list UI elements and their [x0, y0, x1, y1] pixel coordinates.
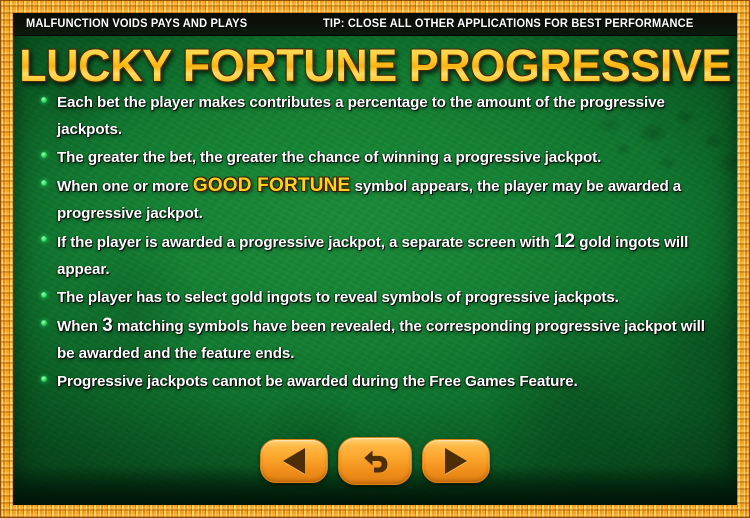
malfunction-notice-text: MALFUNCTION VOIDS PAYS AND PLAYS [26, 18, 247, 30]
undo-arrow-icon [359, 447, 391, 475]
rule-item: When 3 matching symbols have been reveal… [35, 312, 723, 367]
bullet-dot-icon [41, 180, 47, 186]
rule-text: The greater the bet, the greater the cha… [57, 144, 723, 171]
bullet-dot-icon [41, 152, 47, 158]
rule-text-span: When [57, 318, 102, 335]
rule-item: When one or more GOOD FORTUNE symbol app… [35, 172, 723, 227]
rule-text-span: The player has to select gold ingots to … [57, 289, 619, 306]
rule-text: Progressive jackpots cannot be awarded d… [57, 368, 723, 395]
page-title: LUCKY FORTUNE PROGRESSIVE [13, 43, 737, 88]
rule-text: The player has to select gold ingots to … [57, 284, 723, 311]
bullet-dot-icon [41, 292, 47, 298]
back-to-game-button[interactable] [338, 437, 412, 485]
bullet-dot-icon [41, 320, 47, 326]
notice-bar: MALFUNCTION VOIDS PAYS AND PLAYS TIP: CL… [13, 13, 737, 36]
bullet-dot-icon [41, 376, 47, 382]
rules-list: Each bet the player makes contributes a … [35, 89, 723, 396]
bullet-dot-icon [41, 97, 47, 103]
rule-text-span: If the player is awarded a progressive j… [57, 234, 554, 251]
previous-page-button[interactable] [260, 439, 328, 483]
rule-text-span: matching symbols have been revealed, the… [57, 318, 705, 362]
rule-text: Each bet the player makes contributes a … [57, 89, 723, 143]
bullet-dot-icon [41, 236, 47, 242]
content-panel: MALFUNCTION VOIDS PAYS AND PLAYS TIP: CL… [13, 13, 737, 505]
rule-text-span: Each bet the player makes contributes a … [57, 94, 665, 138]
arrow-left-icon [283, 448, 305, 474]
rule-text: When one or more GOOD FORTUNE symbol app… [57, 172, 723, 227]
game-info-screen: MALFUNCTION VOIDS PAYS AND PLAYS TIP: CL… [0, 0, 750, 518]
rule-text-span: The greater the bet, the greater the cha… [57, 149, 601, 166]
next-page-button[interactable] [422, 439, 490, 483]
rule-item: Each bet the player makes contributes a … [35, 89, 723, 143]
rule-text-span: Progressive jackpots cannot be awarded d… [57, 373, 578, 390]
arrow-right-icon [445, 448, 467, 474]
rule-text-span: When one or more [57, 178, 193, 195]
good-fortune-symbol-label: GOOD FORTUNE [193, 175, 351, 196]
rule-item: The player has to select gold ingots to … [35, 284, 723, 311]
rule-item: The greater the bet, the greater the cha… [35, 144, 723, 171]
rule-item: If the player is awarded a progressive j… [35, 228, 723, 283]
navigation-bar [13, 437, 737, 485]
rule-text: When 3 matching symbols have been reveal… [57, 312, 723, 367]
emphasized-number: 12 [554, 231, 575, 252]
performance-tip-text: TIP: CLOSE ALL OTHER APPLICATIONS FOR BE… [323, 18, 693, 30]
emphasized-number: 3 [102, 315, 113, 336]
rule-text: If the player is awarded a progressive j… [57, 228, 723, 283]
rule-item: Progressive jackpots cannot be awarded d… [35, 368, 723, 395]
